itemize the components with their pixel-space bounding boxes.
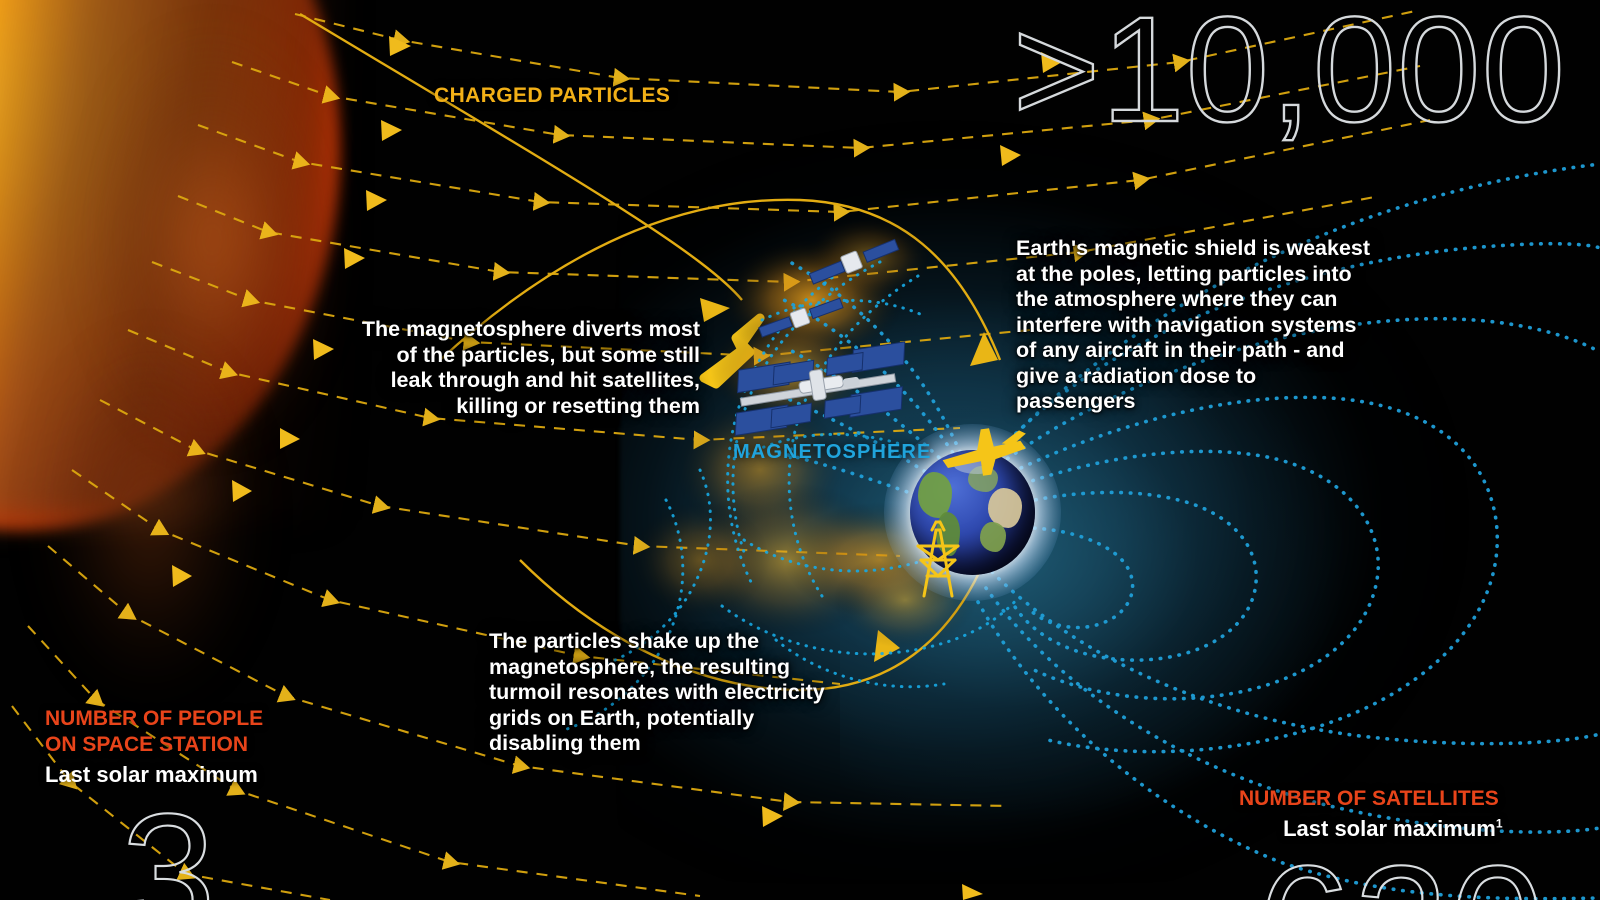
infographic-canvas: CHARGED PARTICLES MAGNETOSPHERE The magn… — [0, 0, 1600, 900]
power-pylon-icon — [918, 522, 958, 596]
stat-value: 620 — [1257, 848, 1547, 900]
annotation-weak-poles: Earth's magnetic shield is weakest at th… — [1016, 236, 1376, 415]
stat-kicker-line2: ON SPACE STATION — [45, 732, 263, 758]
stat-kicker-line1: NUMBER OF SATELLITES — [1239, 786, 1547, 812]
stat-value: 3 — [121, 796, 263, 900]
stat-number-of-satellites: NUMBER OF SATELLITES Last solar maximum1… — [1239, 786, 1547, 900]
aircraft-icon — [939, 423, 1031, 481]
stat-people-on-space-station: NUMBER OF PEOPLE ON SPACE STATION Last s… — [45, 706, 263, 900]
stat-kicker-line1: NUMBER OF PEOPLE — [45, 706, 263, 732]
magnetosphere-label: MAGNETOSPHERE — [733, 441, 931, 465]
stat-footnote-marker: 1 — [1496, 817, 1503, 831]
annotation-magnetosphere-diverts: The magnetosphere diverts most of the pa… — [360, 317, 700, 419]
annotation-grid-disruption: The particles shake up the magnetosphere… — [489, 629, 839, 757]
charged-particles-label: CHARGED PARTICLES — [434, 84, 670, 109]
charged-particles-count: >10,000 — [1013, 0, 1566, 144]
